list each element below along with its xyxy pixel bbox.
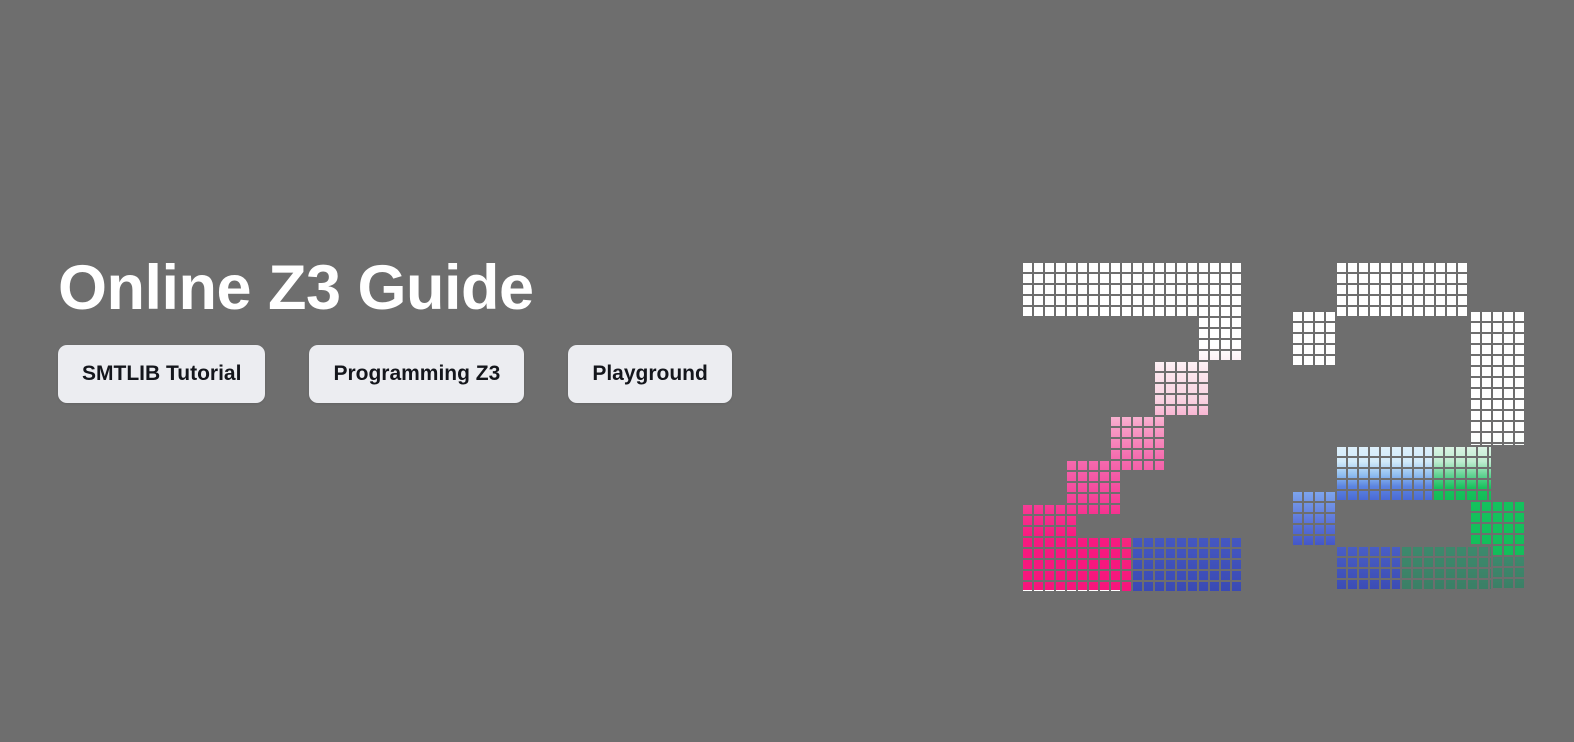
- three-top-bar: [1335, 261, 1469, 316]
- three-left-bottom-nub: [1291, 490, 1336, 545]
- z-bottom-bar-magenta: [1021, 536, 1131, 591]
- z-step-2: [1153, 360, 1208, 415]
- three-right-upper: [1469, 310, 1524, 445]
- z-step-1: [1197, 316, 1241, 360]
- three-left-nub: [1291, 310, 1336, 365]
- page-title: Online Z3 Guide: [58, 255, 958, 321]
- logo-glyph-z: [1015, 255, 1250, 590]
- three-bottom-bar-green: [1400, 545, 1491, 590]
- three-middle-bar-green: [1432, 445, 1491, 500]
- smtlib-tutorial-button[interactable]: SMTLIB Tutorial: [58, 345, 265, 403]
- z-top-bar: [1021, 261, 1241, 316]
- three-bottom-bar-blue: [1335, 545, 1403, 590]
- three-middle-bar-blue: [1335, 445, 1435, 500]
- z-bottom-bar-blue: [1131, 536, 1241, 591]
- programming-z3-button[interactable]: Programming Z3: [309, 345, 524, 403]
- hero-section: Online Z3 Guide SMTLIB Tutorial Programm…: [0, 0, 1574, 742]
- hero-content: Online Z3 Guide SMTLIB Tutorial Programm…: [58, 255, 958, 403]
- logo-glyph-3: [1287, 255, 1525, 590]
- playground-button[interactable]: Playground: [568, 345, 732, 403]
- hero-button-group: SMTLIB Tutorial Programming Z3 Playgroun…: [58, 345, 958, 403]
- z3-pixel-logo: [1015, 255, 1525, 590]
